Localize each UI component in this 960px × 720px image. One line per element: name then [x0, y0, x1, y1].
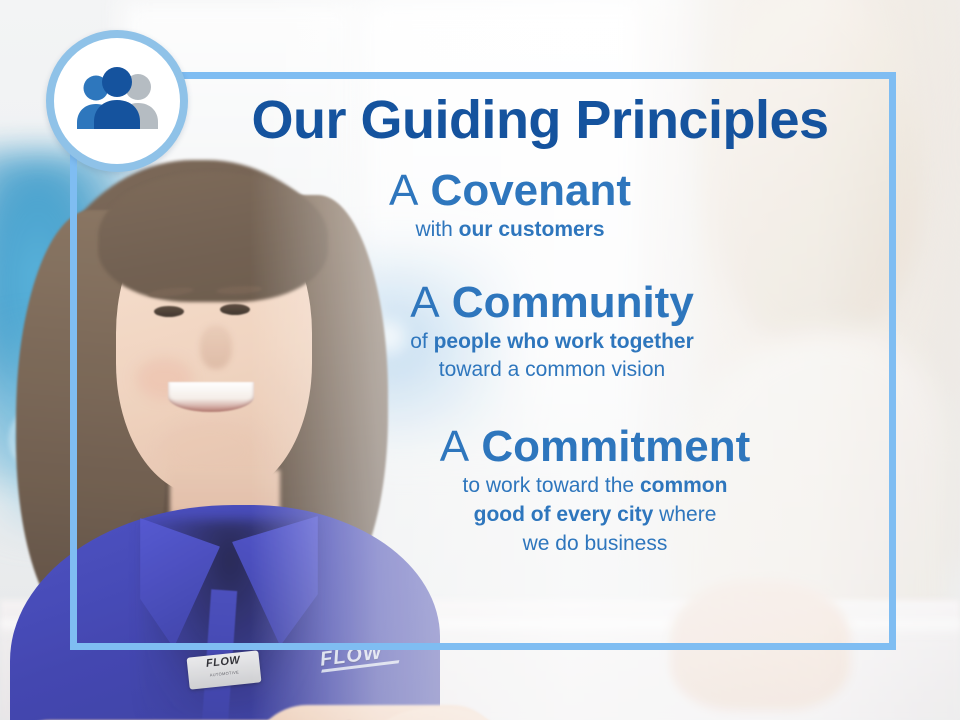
principle-community: A Community of people who work together …	[190, 279, 890, 385]
subtext-line: we do business	[300, 530, 890, 559]
promo-graphic: FLOW AUTOMOTIVE FLOW	[0, 0, 960, 720]
subtext-line: good of every city where	[300, 501, 890, 530]
subtext-line: of people who work together	[214, 328, 890, 356]
principle-commitment: A Commitment to work toward the common g…	[190, 423, 890, 559]
people-group-icon	[46, 30, 188, 172]
principle-word: Covenant	[431, 166, 631, 215]
page-title: Our Guiding Principles	[190, 78, 890, 149]
subtext-emphasis: common	[640, 474, 728, 497]
principle-covenant: A Covenant with our customers	[190, 167, 890, 245]
subtext-line: toward a common vision	[214, 356, 890, 384]
principle-word: Community	[452, 278, 694, 327]
subtext-emphasis: people who work together	[434, 330, 694, 353]
employee-eye	[154, 306, 184, 317]
principle-heading: A Commitment	[300, 423, 890, 471]
subtext-emphasis: good of every city	[474, 503, 654, 526]
principle-heading: A Covenant	[190, 167, 830, 215]
principle-article: A	[440, 422, 469, 471]
principle-subtext: of people who work together toward a com…	[214, 328, 890, 385]
principle-article: A	[389, 166, 418, 215]
subtext-line: with our customers	[415, 218, 604, 241]
principle-subtext: with our customers	[190, 216, 830, 244]
subtext-emphasis: our customers	[459, 218, 605, 241]
principle-heading: A Community	[214, 279, 890, 327]
text-content: Our Guiding Principles A Covenant with o…	[190, 78, 890, 648]
principle-article: A	[410, 278, 439, 327]
principle-subtext: to work toward the common good of every …	[300, 472, 890, 559]
principle-word: Commitment	[481, 422, 750, 471]
subtext-line: to work toward the common	[300, 472, 890, 501]
